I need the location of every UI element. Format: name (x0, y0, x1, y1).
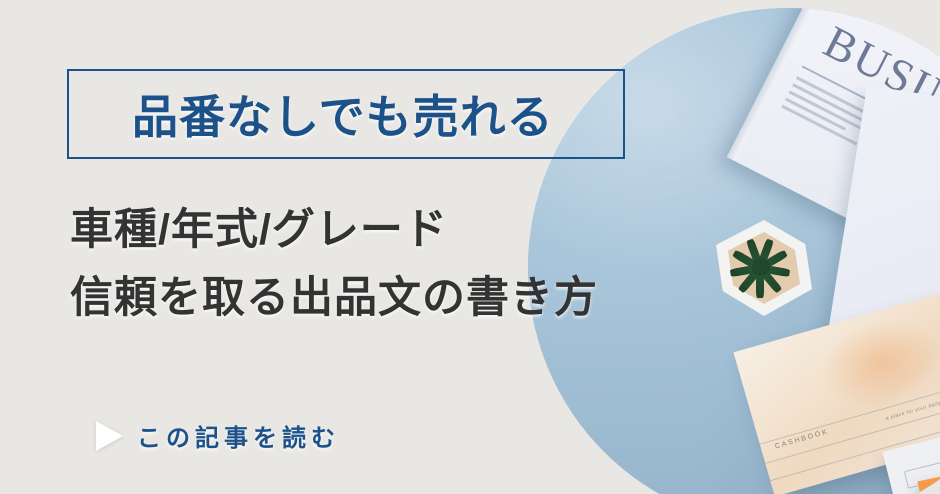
play-triangle-icon (96, 421, 123, 451)
read-article-cta[interactable]: この記事を読む (96, 418, 340, 453)
subheadline: 車種/年式/グレード 信頼を取る出品文の書き方 (70, 196, 598, 332)
blog-article-banner: BUSIN CASHBOOK a p (0, 0, 940, 494)
subheadline-line-2: 信頼を取る出品文の書き方 (70, 264, 598, 332)
subheadline-line-1: 車種/年式/グレード (70, 206, 448, 254)
headline-box: 品番なしでも売れる (67, 69, 625, 159)
page-title: 品番なしでも売れる (132, 81, 554, 147)
succulent-plant-object (716, 220, 812, 316)
plant-core (752, 258, 770, 276)
read-article-cta-label: この記事を読む (137, 418, 340, 453)
